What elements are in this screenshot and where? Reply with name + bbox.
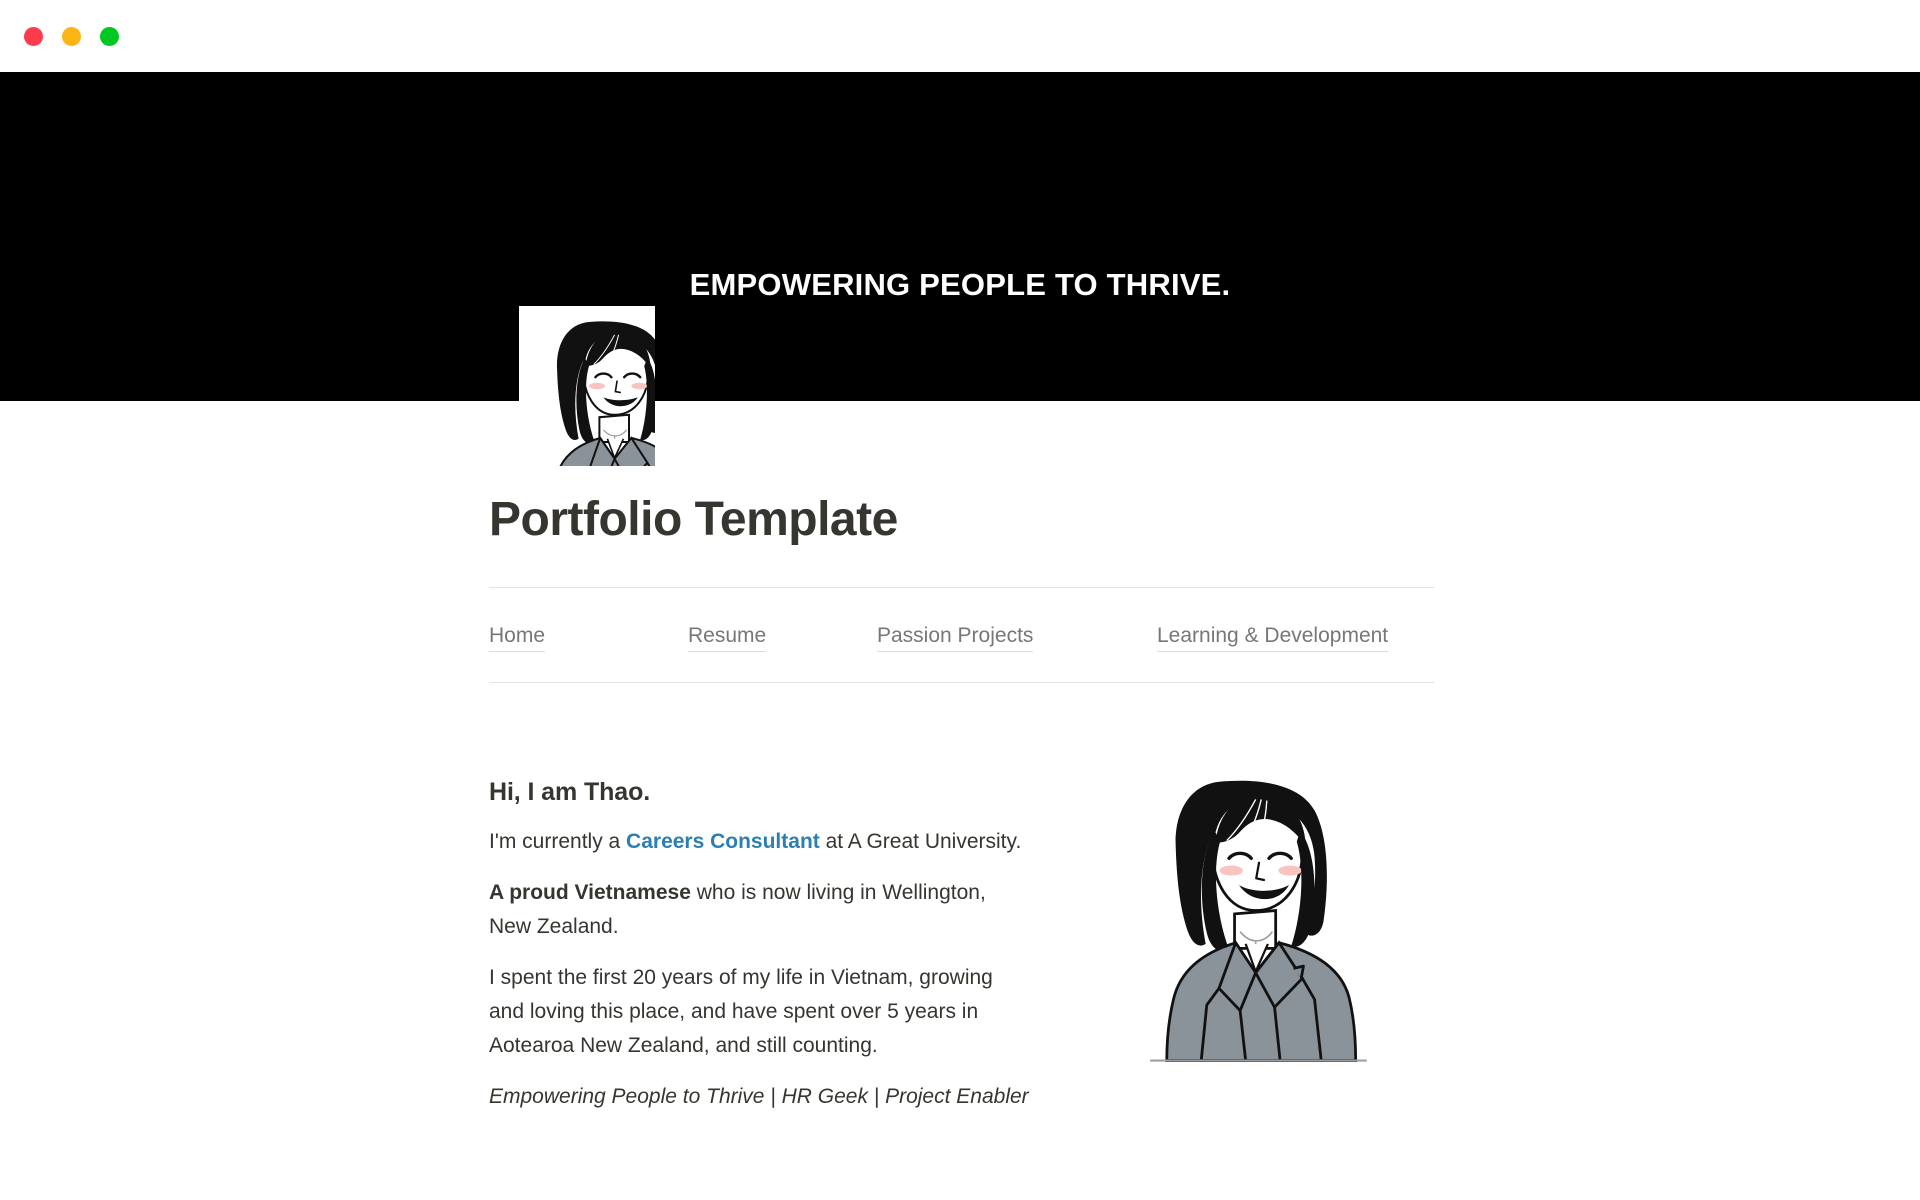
- intro-tagline: Empowering People to Thrive | HR Geek | …: [489, 1080, 1029, 1114]
- intro-paragraph-history: I spent the first 20 years of my life in…: [489, 961, 1029, 1063]
- avatar: [519, 306, 655, 466]
- traffic-lights: [24, 27, 119, 46]
- intro-section: Hi, I am Thao. I'm currently a Careers C…: [489, 778, 1029, 1114]
- careers-consultant-link[interactable]: Careers Consultant: [626, 830, 820, 853]
- intro-location-strong: A proud Vietnamese: [489, 881, 691, 904]
- close-window-button[interactable]: [24, 27, 43, 46]
- minimize-window-button[interactable]: [62, 27, 81, 46]
- divider-above-nav: [489, 587, 1434, 588]
- intro-role-suffix: at A Great University.: [820, 830, 1022, 853]
- nav-item-resume[interactable]: Resume: [688, 624, 766, 652]
- nav-item-passion-projects[interactable]: Passion Projects: [877, 624, 1033, 652]
- hero-banner: EMPOWERING PEOPLE TO THRIVE.: [0, 72, 1920, 401]
- divider-below-nav: [489, 682, 1434, 683]
- intro-paragraph-location: A proud Vietnamese who is now living in …: [489, 876, 1029, 944]
- maximize-window-button[interactable]: [100, 27, 119, 46]
- intro-role-prefix: I'm currently a: [489, 830, 626, 853]
- intro-heading: Hi, I am Thao.: [489, 778, 1029, 807]
- profile-illustration: [1128, 765, 1390, 1065]
- hero-tagline: EMPOWERING PEOPLE TO THRIVE.: [0, 267, 1920, 303]
- intro-paragraph-role: I'm currently a Careers Consultant at A …: [489, 825, 1029, 859]
- page-title: Portfolio Template: [489, 492, 898, 547]
- nav-item-learning-development[interactable]: Learning & Development: [1157, 624, 1388, 652]
- nav-item-home[interactable]: Home: [489, 624, 545, 652]
- browser-window-chrome: [0, 0, 1920, 72]
- site-navigation: Home Resume Passion Projects Learning & …: [489, 624, 1434, 654]
